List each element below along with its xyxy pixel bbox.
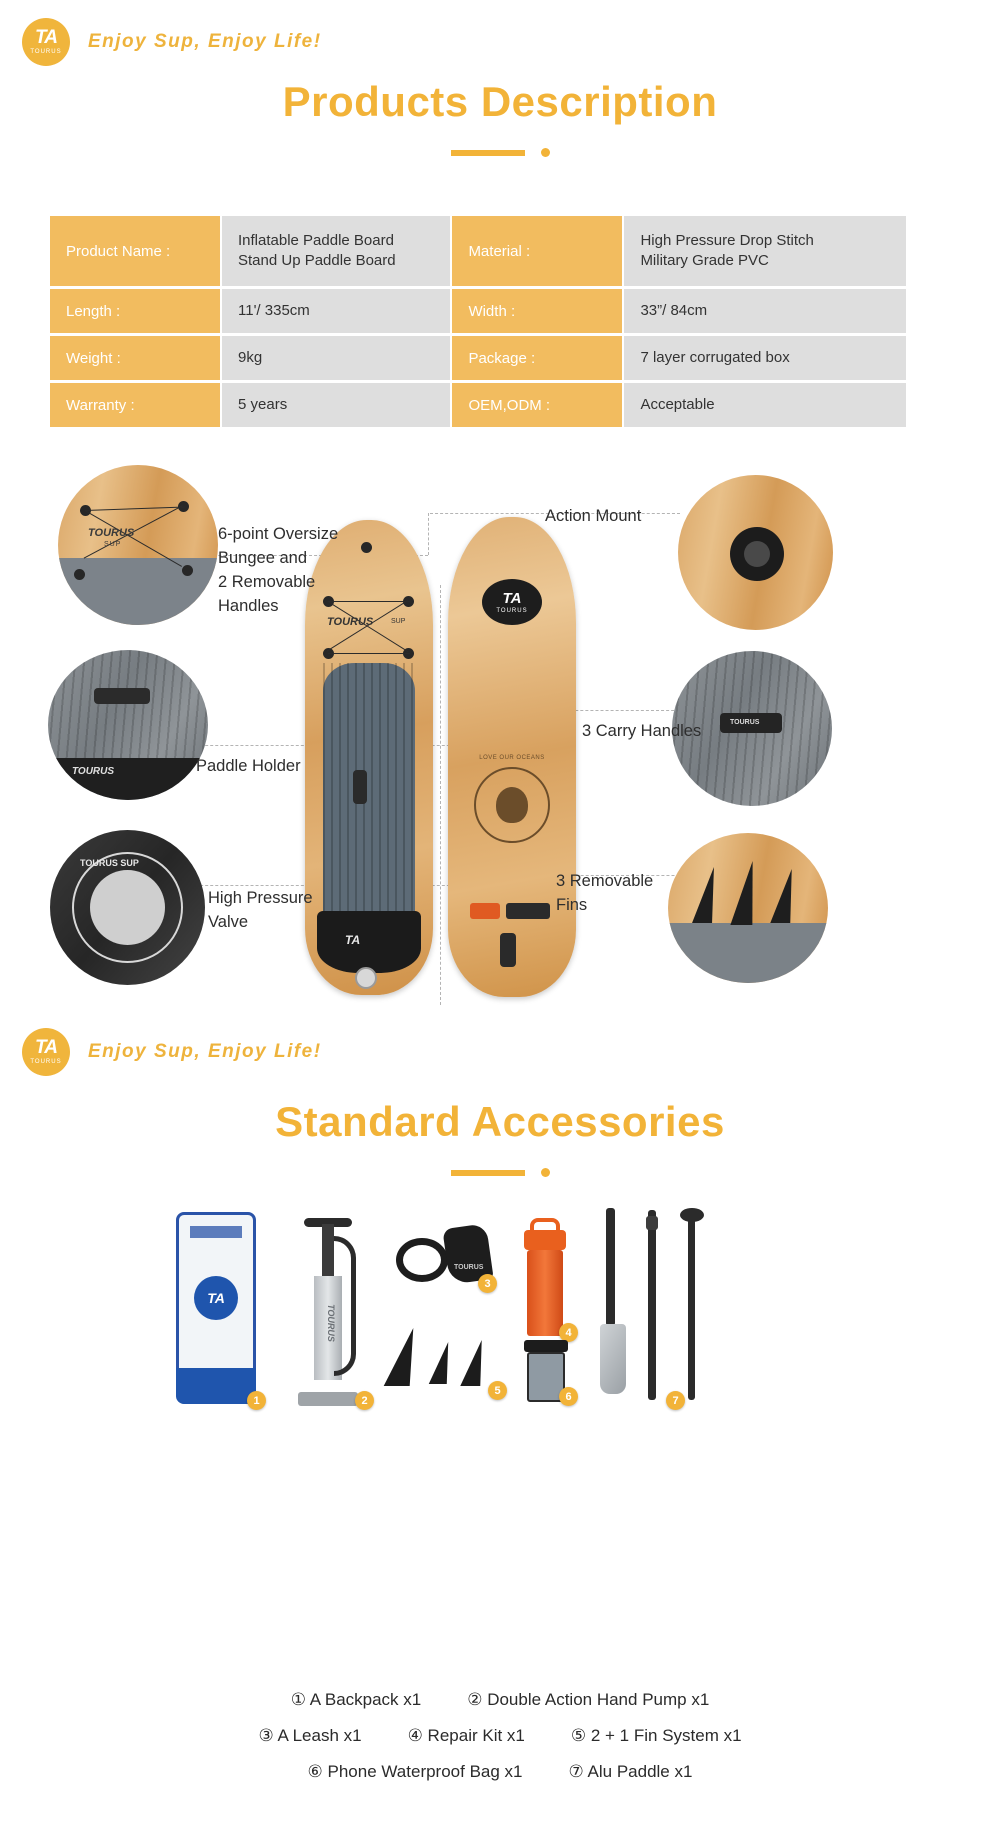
deck-pad xyxy=(323,663,415,939)
accessory-phone-waterproof-bag: 6 xyxy=(524,1340,568,1402)
spec-key-width: Width : xyxy=(452,289,622,333)
connector-line-bungee-vertical xyxy=(428,513,429,555)
callout-label-valve: High Pressure Valve xyxy=(208,887,313,935)
callout-label-paddle-holder: Paddle Holder xyxy=(196,755,301,779)
accessory-repair-kit: 4 xyxy=(522,1218,568,1338)
title-divider-accessories xyxy=(0,1168,1000,1177)
spec-value-package: 7 layer corrugated box xyxy=(624,336,906,380)
legend-item-backpack: ① A Backpack x1 xyxy=(291,1690,422,1710)
spec-value-width: 33”/ 84cm xyxy=(624,289,906,333)
spec-key-product-name: Product Name : xyxy=(50,216,220,286)
logo-wordmark: TOURUS xyxy=(30,49,61,55)
callout-label-carry-handles: 3 Carry Handles xyxy=(582,720,701,744)
accessory-hand-pump: TOURUS 2 xyxy=(290,1210,366,1406)
spec-key-warranty: Warranty : xyxy=(50,383,220,427)
legend-item-alu-paddle: ⑦ Alu Paddle x1 xyxy=(569,1762,693,1782)
brand-tagline: Enjoy Sup, Enjoy Life! xyxy=(88,1041,322,1063)
brand-tagline: Enjoy Sup, Enjoy Life! xyxy=(88,31,322,53)
connector-line-center-divider xyxy=(440,585,441,1005)
product-description-page: TA TOURUS Enjoy Sup, Enjoy Life! Product… xyxy=(0,0,1000,1828)
accessories-gallery: TA 1 TOURUS 2 TOURUS 3 5 xyxy=(0,1200,1000,1620)
detail-photo-action-mount xyxy=(678,475,833,630)
accessory-badge-7: 7 xyxy=(666,1391,685,1410)
spec-key-package: Package : xyxy=(452,336,622,380)
accessory-leash: TOURUS 3 xyxy=(392,1220,512,1300)
spec-key-oem-odm: OEM,ODM : xyxy=(452,383,622,427)
legend-row: ⑥ Phone Waterproof Bag x1 ⑦ Alu Paddle x… xyxy=(0,1762,1000,1782)
accessory-badge-5: 5 xyxy=(488,1381,507,1400)
accessory-badge-1: 1 xyxy=(247,1391,266,1410)
logo-wordmark: TOURUS xyxy=(30,1059,61,1065)
spec-value-oem-odm: Acceptable xyxy=(624,383,906,427)
divider-bar xyxy=(451,1170,525,1176)
table-row: Length : 11'/ 335cm Width : 33”/ 84cm xyxy=(50,289,906,333)
table-row: Product Name : Inflatable Paddle Board S… xyxy=(50,216,906,286)
legend-row: ③ A Leash x1 ④ Repair Kit x1 ⑤ 2 + 1 Fin… xyxy=(0,1726,1000,1746)
spec-value-warranty: 5 years xyxy=(222,383,450,427)
board-back-logo: TA TOURUS xyxy=(482,579,542,625)
callout-label-action-mount: Action Mount xyxy=(545,505,641,529)
table-row: Warranty : 5 years OEM,ODM : Acceptable xyxy=(50,383,906,427)
legend-item-leash: ③ A Leash x1 xyxy=(258,1726,361,1746)
accessory-backpack: TA 1 xyxy=(176,1212,256,1404)
specification-table: Product Name : Inflatable Paddle Board S… xyxy=(48,213,908,430)
detail-photo-fins xyxy=(668,833,828,983)
features-diagram: TOURUS SUP TOURUS TOURUS SUP TOURUS xyxy=(0,455,1000,1000)
tourus-logo-icon: TA TOURUS xyxy=(22,1028,70,1076)
logo-monogram: TA xyxy=(35,29,57,47)
title-divider-products xyxy=(0,148,1000,157)
accessory-badge-6: 6 xyxy=(559,1387,578,1406)
logo-monogram: TA xyxy=(35,1039,57,1057)
spec-value-length: 11'/ 335cm xyxy=(222,289,450,333)
spec-value-material: High Pressure Drop Stitch Military Grade… xyxy=(624,216,906,286)
accessories-legend: ① A Backpack x1 ② Double Action Hand Pum… xyxy=(0,1690,1000,1798)
divider-dot-icon xyxy=(541,148,550,157)
brand-header-middle: TA TOURUS Enjoy Sup, Enjoy Life! xyxy=(22,1028,322,1076)
divider-dot-icon xyxy=(541,1168,550,1177)
tourus-logo-icon: TA TOURUS xyxy=(22,18,70,66)
accessory-badge-3: 3 xyxy=(478,1274,497,1293)
spec-key-length: Length : xyxy=(50,289,220,333)
board-back-view: TA TOURUS LOVE OUR OCEANS xyxy=(448,517,576,997)
legend-item-hand-pump: ② Double Action Hand Pump x1 xyxy=(467,1690,709,1710)
detail-photo-paddle-holder: TOURUS xyxy=(48,650,208,800)
legend-item-phone-bag: ⑥ Phone Waterproof Bag x1 xyxy=(308,1762,523,1782)
page-title-accessories: Standard Accessories xyxy=(0,1098,1000,1146)
turtle-graphic-text: LOVE OUR OCEANS xyxy=(464,755,560,761)
accessory-fin-system: 5 xyxy=(392,1318,512,1398)
spec-table-body: Product Name : Inflatable Paddle Board S… xyxy=(50,216,906,427)
table-row: Weight : 9kg Package : 7 layer corrugate… xyxy=(50,336,906,380)
detail-photo-bungee: TOURUS SUP xyxy=(58,465,218,625)
detail-photo-valve: TOURUS SUP xyxy=(50,830,205,985)
accessory-alu-paddle: 7 xyxy=(600,1208,710,1404)
spec-value-weight: 9kg xyxy=(222,336,450,380)
brand-header-top: TA TOURUS Enjoy Sup, Enjoy Life! xyxy=(22,18,322,66)
divider-bar xyxy=(451,150,525,156)
accessory-badge-2: 2 xyxy=(355,1391,374,1410)
legend-row: ① A Backpack x1 ② Double Action Hand Pum… xyxy=(0,1690,1000,1710)
page-title-products: Products Description xyxy=(0,78,1000,126)
spec-key-material: Material : xyxy=(452,216,622,286)
spec-value-product-name: Inflatable Paddle Board Stand Up Paddle … xyxy=(222,216,450,286)
callout-label-fins: 3 Removable Fins xyxy=(556,870,653,918)
spec-key-weight: Weight : xyxy=(50,336,220,380)
callout-label-bungee: 6-point Oversize Bungee and 2 Removable … xyxy=(218,523,348,619)
legend-item-fin-system: ⑤ 2 + 1 Fin System x1 xyxy=(571,1726,742,1746)
legend-item-repair-kit: ④ Repair Kit x1 xyxy=(408,1726,525,1746)
